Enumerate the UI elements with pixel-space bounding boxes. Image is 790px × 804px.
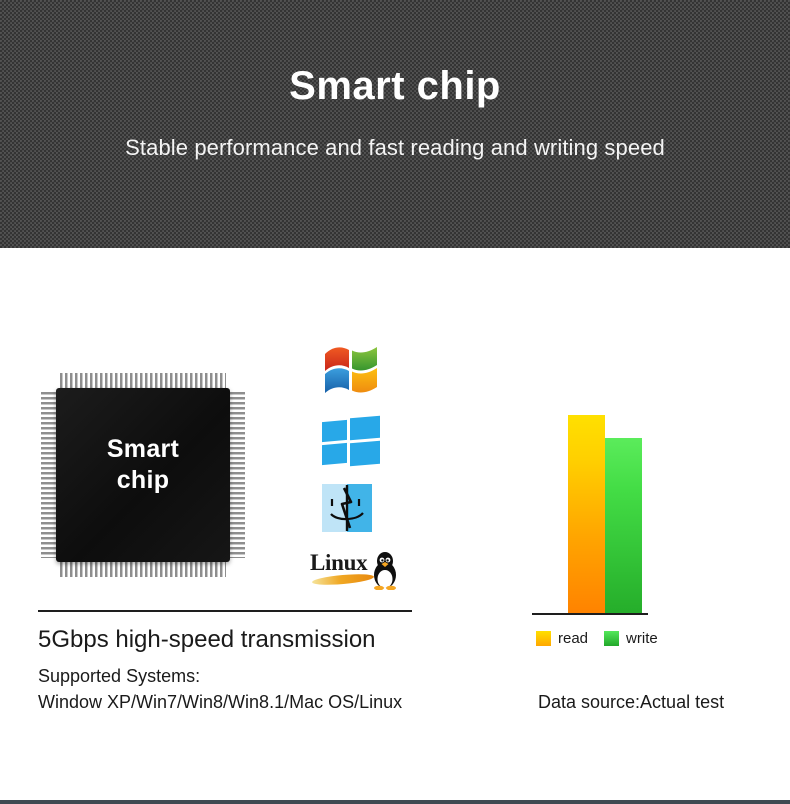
chip-label: Smart chip xyxy=(56,434,230,496)
legend-label-write: write xyxy=(626,630,658,647)
windows-8-logo-icon xyxy=(322,416,380,466)
chart-plot-area xyxy=(538,368,658,615)
legend-label-read: read xyxy=(558,630,588,647)
content-area: Smart chip xyxy=(0,248,790,804)
win8-pane-4 xyxy=(350,441,380,467)
chart-data-source: Data source:Actual test xyxy=(538,689,724,715)
win8-pane-1 xyxy=(322,420,347,442)
mac-finder-icon xyxy=(322,484,372,532)
supported-systems-list: Window XP/Win7/Win8/Win8.1/Mac OS/Linux xyxy=(38,689,498,715)
feature-headline: 5Gbps high-speed transmission xyxy=(38,624,458,656)
chip-body: Smart chip xyxy=(56,388,230,562)
chip-label-line2: chip xyxy=(56,465,230,496)
supported-systems-title: Supported Systems: xyxy=(38,663,458,689)
linux-logo-icon: Linux xyxy=(310,548,406,594)
win8-pane-3 xyxy=(322,443,347,465)
page-subtitle: Stable performance and fast reading and … xyxy=(0,133,790,163)
bar-read xyxy=(568,415,605,615)
speed-bar-chart: read write xyxy=(510,368,740,668)
linux-wordmark: Linux xyxy=(310,550,367,576)
footer-bar xyxy=(0,800,790,804)
chip-label-line1: Smart xyxy=(56,434,230,465)
chart-legend: read write xyxy=(536,630,667,647)
page-title: Smart chip xyxy=(0,62,790,110)
divider-rule xyxy=(38,610,412,612)
os-logo-list: Linux xyxy=(310,344,406,604)
legend-swatch-read xyxy=(536,631,551,646)
legend-swatch-write xyxy=(604,631,619,646)
hero-banner: Smart chip Stable performance and fast r… xyxy=(0,0,790,248)
chart-axis-line xyxy=(532,613,648,615)
chip-illustration: Smart chip xyxy=(38,370,248,580)
bar-write xyxy=(605,438,642,615)
tux-penguin-icon xyxy=(370,550,400,590)
windows-classic-flag-icon xyxy=(320,344,382,396)
win8-pane-2 xyxy=(350,416,380,441)
